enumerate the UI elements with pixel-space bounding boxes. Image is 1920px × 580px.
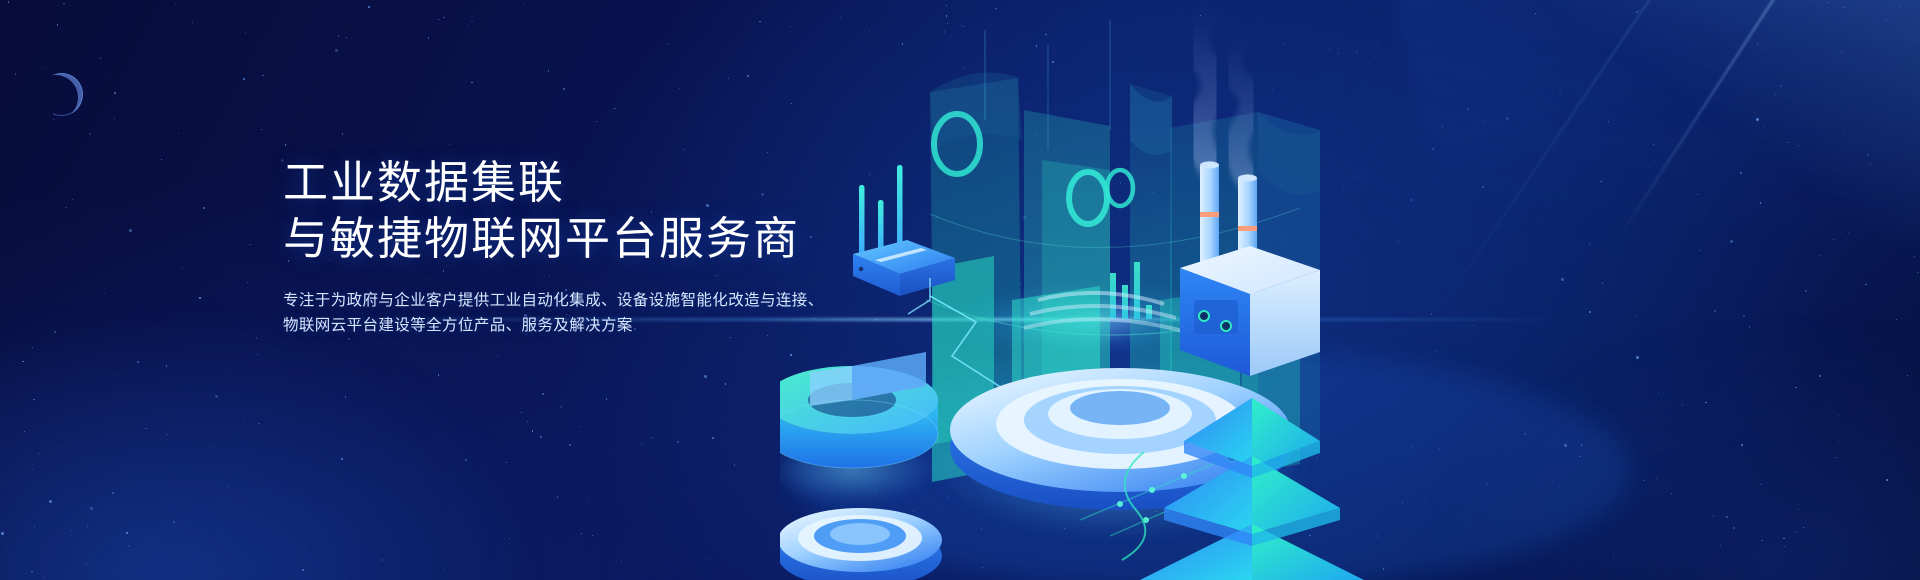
smoke-plume-2 (1231, 42, 1251, 180)
star (679, 88, 680, 89)
star (109, 72, 110, 73)
star (704, 375, 707, 378)
crescent-moon-icon (40, 73, 83, 116)
star (346, 37, 347, 38)
star (243, 78, 245, 80)
star (728, 78, 729, 79)
star (542, 393, 544, 395)
router-antenna-1 (859, 185, 865, 257)
star (540, 436, 542, 438)
star (53, 119, 54, 120)
tower-porthole-3 (1107, 170, 1133, 206)
star (471, 21, 472, 22)
star (161, 159, 162, 160)
star (596, 121, 597, 122)
star (104, 293, 105, 294)
star (45, 68, 46, 69)
star (368, 6, 369, 7)
star (684, 149, 685, 150)
ring-pad (780, 508, 942, 580)
star (443, 17, 444, 18)
star (428, 37, 429, 38)
star (63, 3, 64, 4)
star (262, 75, 263, 76)
hero-banner: 工业数据集联 与敏捷物联网平台服务商 专注于为政府与企业客户提供工业自动化集成、… (0, 0, 1920, 580)
star (247, 282, 248, 283)
star (100, 57, 101, 58)
star (579, 426, 580, 427)
star (175, 3, 176, 4)
star (677, 441, 679, 443)
star (338, 35, 339, 36)
star (129, 229, 132, 232)
background-glow-bottom-left (0, 310, 540, 580)
star (468, 25, 469, 26)
hero-illustration (780, 0, 1920, 580)
star (606, 398, 607, 399)
star (747, 75, 749, 77)
star (725, 383, 726, 384)
star (261, 129, 262, 130)
star (614, 108, 615, 109)
star (563, 88, 564, 89)
star (557, 496, 558, 497)
star (342, 133, 343, 134)
star (668, 44, 669, 45)
star (285, 144, 286, 145)
star (72, 199, 73, 200)
star (737, 539, 738, 540)
star (325, 61, 326, 62)
star (587, 499, 588, 500)
star (652, 437, 653, 438)
star (57, 24, 58, 25)
star (15, 73, 16, 74)
star (203, 207, 205, 209)
star (635, 361, 636, 362)
star (94, 243, 95, 244)
star (178, 133, 179, 134)
cylinder-chart (780, 352, 938, 504)
star (641, 443, 642, 444)
star (192, 22, 193, 23)
star (548, 70, 549, 71)
star (471, 82, 472, 83)
star (524, 3, 525, 4)
star (709, 559, 710, 560)
star (734, 464, 735, 465)
star (199, 297, 200, 298)
star (592, 535, 593, 536)
star (65, 207, 66, 208)
star (621, 561, 622, 562)
star (712, 437, 714, 439)
smoke-plume-1 (1195, 17, 1214, 167)
star (229, 267, 230, 268)
star (767, 152, 768, 153)
star (89, 133, 91, 135)
star (245, 32, 246, 33)
star (581, 533, 582, 534)
star (449, 144, 450, 145)
star (759, 21, 760, 22)
star (569, 444, 570, 445)
star (8, 1, 9, 2)
star (560, 406, 561, 407)
star (249, 244, 250, 245)
star (632, 501, 633, 502)
star (706, 86, 707, 87)
star (114, 118, 115, 119)
star (438, 19, 439, 20)
star (101, 205, 102, 206)
star (114, 92, 116, 94)
star (335, 49, 338, 52)
star (181, 267, 182, 268)
